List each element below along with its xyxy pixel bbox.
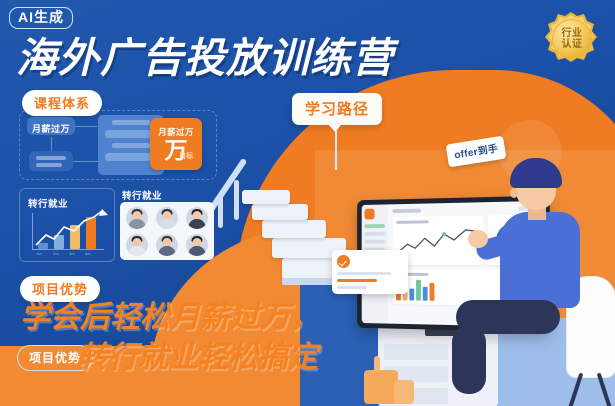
person-hand — [468, 230, 488, 248]
flow-connector-2 — [75, 126, 97, 127]
certification-seal: 行业 认证 — [543, 10, 599, 66]
flow-connector-vertical — [51, 137, 52, 151]
chart-tick-1: 1m — [36, 251, 42, 256]
salary-card-unit: 目标 — [179, 151, 193, 161]
notification-line-3 — [337, 286, 367, 289]
person-ear — [510, 188, 518, 198]
notification-line-2 — [337, 279, 377, 282]
check-icon — [337, 255, 350, 268]
page-title: 海外广告投放训练营 — [16, 24, 394, 84]
poster-canvas: AI生成 海外广告投放训练营 行业 认证 课程体系 学习路径 月薪过万 — [0, 0, 615, 406]
notification-line-1 — [337, 272, 391, 275]
avatar — [156, 207, 178, 229]
avatar — [156, 234, 178, 256]
person-torso — [500, 212, 580, 308]
flow-group-title-2 — [112, 143, 150, 148]
dashboard-nav-item[interactable] — [364, 240, 384, 244]
flow-connector-1 — [73, 161, 99, 162]
stair-step-4 — [252, 204, 308, 220]
tooltip-learning-path: 学习路径 — [292, 93, 382, 125]
dashboard-logo-icon — [364, 209, 374, 220]
chart-tick-3: 3m — [69, 251, 75, 256]
seal-text-line2: 认证 — [562, 39, 583, 50]
suitcase-small — [394, 380, 414, 404]
avatar — [186, 207, 208, 229]
luggage-illustration — [360, 352, 416, 406]
chart-tick-4: 4m — [85, 251, 91, 256]
dashboard-mini-bar — [423, 287, 428, 301]
flow-node-sub — [29, 151, 73, 171]
avatar — [186, 234, 208, 256]
stair-step-3 — [262, 220, 326, 238]
avatar — [126, 234, 148, 256]
person-illustration — [470, 150, 615, 406]
career-people-title: 转行就业 — [122, 188, 162, 202]
person-shin — [452, 326, 486, 394]
flow-group-title-1 — [112, 120, 150, 125]
flow-node-sub-text-1 — [36, 156, 66, 160]
floating-notification-card — [332, 250, 408, 294]
dashboard-mini-bar — [430, 283, 435, 301]
headline-line-1: 学会后轻松月薪过万， — [20, 292, 320, 336]
dashboard-nav-item[interactable] — [364, 224, 384, 228]
career-chart-card: 转行就业 1m 2m 3m 4m — [19, 188, 115, 262]
stair-step-5 — [242, 190, 290, 204]
chart-tick-2: 2m — [53, 251, 59, 256]
flow-node-sub-text-2 — [36, 163, 62, 167]
suitcase-body — [364, 370, 398, 404]
headline-line-2: 转行就业轻松搞定 — [78, 332, 318, 376]
chart-trend-line — [20, 189, 114, 261]
seal-text-line1: 行业 — [562, 28, 583, 39]
dashboard-header-title — [392, 209, 421, 214]
dashboard-mini-bar — [409, 289, 414, 301]
avatar — [126, 207, 148, 229]
stair-rail-post-1 — [234, 180, 239, 220]
dashboard-line-chart-label — [396, 220, 428, 223]
dashboard-mini-bar — [416, 280, 421, 301]
career-people-card: 转行就业 — [120, 188, 214, 260]
seal-disc: 行业 认证 — [552, 19, 592, 59]
person-hair — [510, 158, 562, 188]
suitcase-handle — [374, 356, 380, 372]
stair-rail-post-2 — [218, 194, 223, 228]
avatar-grid — [120, 202, 214, 260]
tooltip-learning-path-label: 学习路径 — [305, 101, 369, 118]
dashboard-nav-item[interactable] — [364, 232, 384, 236]
flow-node-main-label: 月薪过万 — [32, 122, 70, 135]
salary-highlight-card: 月薪过万 万 目标 — [150, 118, 202, 170]
